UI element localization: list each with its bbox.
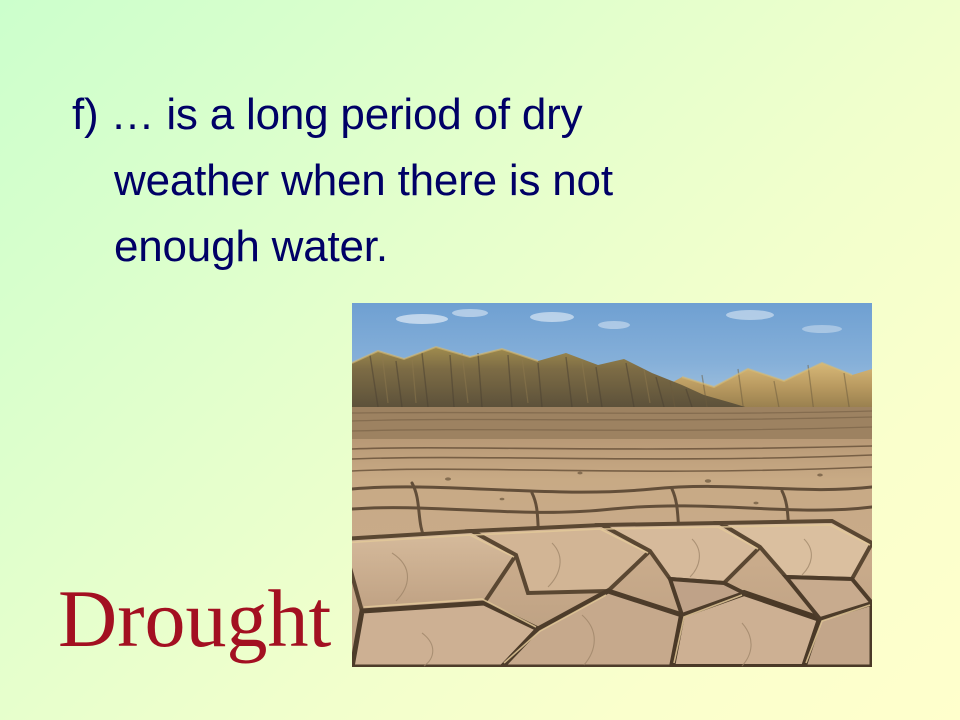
question-line-1: f) … is a long period of dry (72, 82, 832, 148)
question-text-block: f) … is a long period of dry weather whe… (72, 82, 832, 280)
question-line-3: enough water. (72, 214, 832, 280)
drought-photo-illustration (352, 303, 872, 667)
drought-photo (352, 303, 872, 667)
answer-word: Drought (58, 578, 331, 660)
slide-canvas: f) … is a long period of dry weather whe… (0, 0, 960, 720)
question-line-2: weather when there is not (72, 148, 832, 214)
